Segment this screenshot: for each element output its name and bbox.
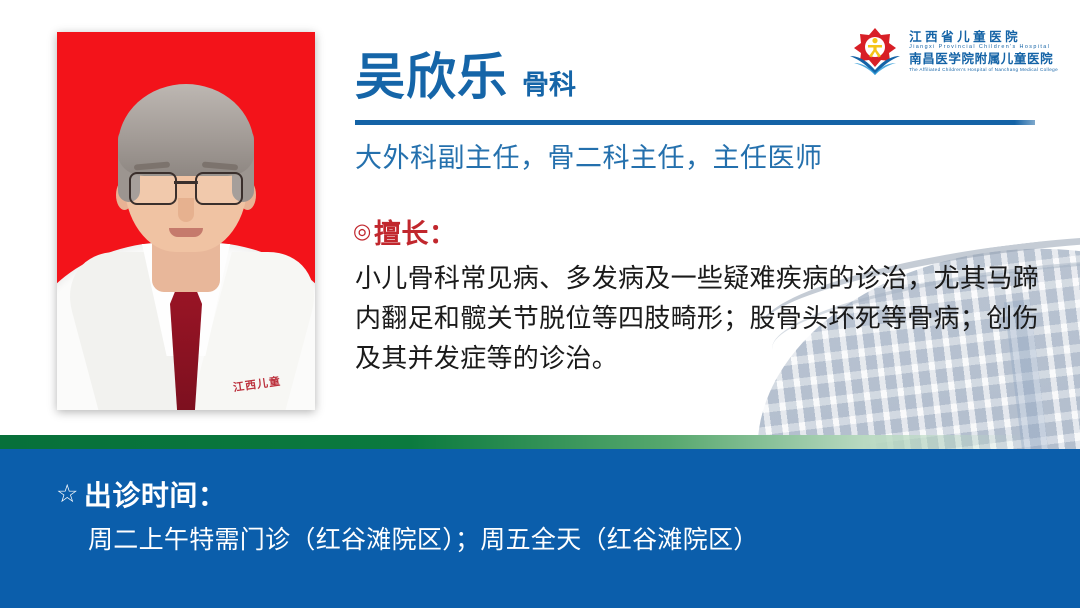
hospital-logo: 江西省儿童医院 Jiangxi Provincial Children's Ho… [848,26,1058,76]
hospital-logo-text: 江西省儿童医院 Jiangxi Provincial Children's Ho… [909,30,1058,73]
green-divider-band [0,435,1080,449]
star-outline-icon: ☆ [56,479,79,509]
specialty-text: 小儿骨科常见病、多发病及一些疑难疾病的诊治，尤其马蹄内翻足和髋关节脱位等四肢畸形… [355,258,1045,378]
lens-right [195,172,243,205]
doctor-department: 骨科 [522,72,576,99]
doctor-profile-slide: 江西儿童 江西省儿童医院 Jiangxi Provincial Children… [0,0,1080,608]
schedule-heading: ☆ 出诊时间： [56,474,226,514]
doctor-name: 吴欣乐 [355,52,508,102]
schedule-text: 周二上午特需门诊（红谷滩院区）；周五全天（红谷滩院区） [88,520,759,556]
circle-bullet-icon: ◎ [353,219,372,244]
mouth [169,228,203,237]
logo-line2-cn: 南昌医学院附属儿童医院 [909,52,1058,66]
specialty-heading: ◎ 擅长： [353,212,456,251]
doctor-portrait: 江西儿童 [57,32,315,410]
schedule-heading-label: 出诊时间： [84,474,227,514]
doctor-photo-frame: 江西儿童 [57,32,315,410]
logo-line1-en: Jiangxi Provincial Children's Hospital [909,45,1058,51]
lens-left [129,172,177,205]
logo-line1-cn: 江西省儿童医院 [909,30,1058,44]
header-divider-rule [355,120,1035,125]
specialty-heading-label: 擅长： [374,212,457,251]
doctor-title: 大外科副主任，骨二科主任，主任医师 [355,136,823,175]
nose [178,198,194,222]
hospital-emblem-icon [848,26,902,76]
logo-line2-en: The Affiliated Children's Hospital of Na… [909,67,1058,72]
hair [118,84,254,176]
doctor-name-row: 吴欣乐 骨科 [355,52,576,102]
